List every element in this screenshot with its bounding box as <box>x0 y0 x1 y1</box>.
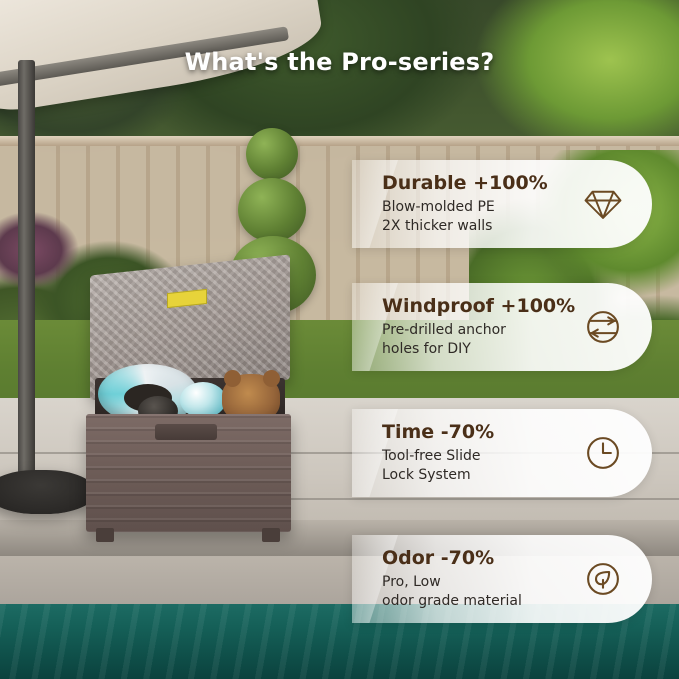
patio-umbrella-pole <box>18 60 35 490</box>
patio-umbrella-base <box>0 470 96 514</box>
clock-icon <box>580 430 626 476</box>
feature-card-durable: Durable +100% Blow-molded PE 2X thicker … <box>352 160 652 248</box>
feature-text-block: Odor -70% Pro, Low odor grade material <box>352 548 522 611</box>
feature-subtext-line-1: Tool-free Slide <box>382 447 494 465</box>
feature-subtext-line-2: 2X thicker walls <box>382 217 548 235</box>
teddy-bear-ear-right <box>263 370 280 387</box>
topiary-ball-middle <box>238 178 306 242</box>
feature-subtext-line-2: Lock System <box>382 466 494 484</box>
fence-cap <box>0 136 679 146</box>
deck-box-foot-left <box>96 528 114 542</box>
teddy-bear-ear-left <box>224 370 241 387</box>
feature-subtext-line-1: Pro, Low <box>382 573 522 591</box>
page-title: What's the Pro-series? <box>0 48 679 76</box>
anchor-bolt-icon <box>580 304 626 350</box>
feature-heading: Windproof +100% <box>382 296 575 318</box>
feature-text-block: Windproof +100% Pre-drilled anchor holes… <box>352 296 575 359</box>
feature-subtext-line-1: Blow-molded PE <box>382 198 548 216</box>
product-infographic: What's the Pro-series? Durable +100% Blo… <box>0 0 679 679</box>
feature-card-time: Time -70% Tool-free Slide Lock System <box>352 409 652 497</box>
deck-box-foot-right <box>262 528 280 542</box>
feature-card-windproof: Windproof +100% Pre-drilled anchor holes… <box>352 283 652 371</box>
deck-box-handle <box>155 424 217 440</box>
feature-card-odor: Odor -70% Pro, Low odor grade material <box>352 535 652 623</box>
feature-subtext-line-2: odor grade material <box>382 592 522 610</box>
beach-ball <box>180 382 226 418</box>
feature-subtext-line-1: Pre-drilled anchor <box>382 321 575 339</box>
feature-heading: Durable +100% <box>382 173 548 195</box>
leaf-icon <box>580 556 626 602</box>
feature-text-block: Time -70% Tool-free Slide Lock System <box>352 422 494 485</box>
topiary-ball-top <box>246 128 298 180</box>
feature-text-block: Durable +100% Blow-molded PE 2X thicker … <box>352 173 548 236</box>
diamond-icon <box>580 181 626 227</box>
feature-heading: Odor -70% <box>382 548 522 570</box>
feature-subtext-line-2: holes for DIY <box>382 340 575 358</box>
feature-heading: Time -70% <box>382 422 494 444</box>
